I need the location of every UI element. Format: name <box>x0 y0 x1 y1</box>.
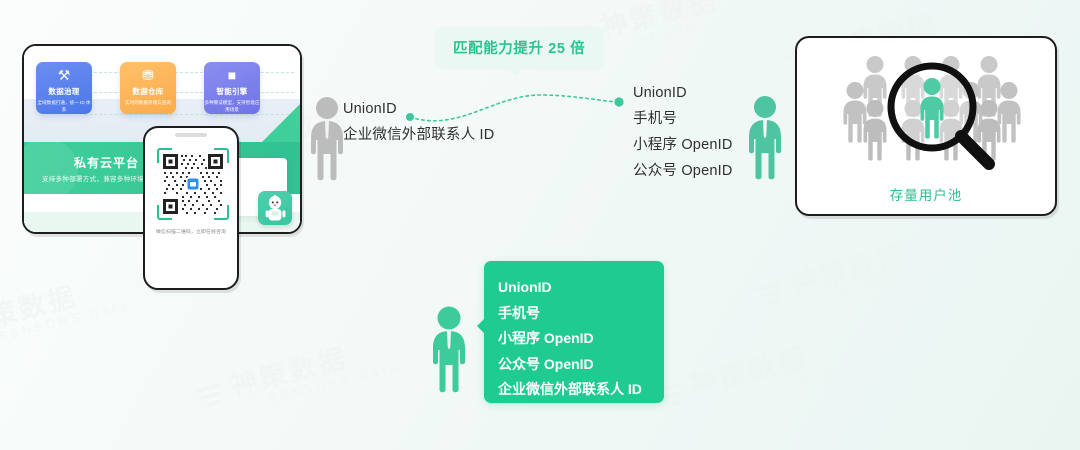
banner-title: 私有云平台 <box>74 154 139 171</box>
infographic-canvas: 神策数据 SENSORS Data 神策数据 SENSORS Data 神策数据… <box>0 0 1080 450</box>
qr-code[interactable] <box>161 152 225 216</box>
identity-item: 手机号 <box>498 301 664 327</box>
identity-item: 小程序 OpenID <box>633 132 733 158</box>
watermark-cn: 神策数据 <box>0 270 129 338</box>
banner-subtitle: 支持多种部署方式，兼容多种环境 <box>42 173 144 183</box>
feature-card-data-warehouse[interactable]: ⛃ 数据仓库 实时的数据存储与查询 <box>120 62 176 114</box>
identity-item: UnionID <box>498 275 664 301</box>
mascot-icon[interactable] <box>258 191 292 225</box>
identity-item: 小程序 OpenID <box>498 326 664 352</box>
watermark-cn: 神策数据 <box>687 332 858 400</box>
person-green-icon <box>428 306 470 394</box>
box-pointer <box>477 319 484 333</box>
green-arrow-decoration <box>248 46 300 142</box>
feature-card-data-governance[interactable]: ⚒ 数据治理 全域数据打通，统一 ID 体系 <box>36 62 92 114</box>
matched-identity-list: UnionID 手机号 小程序 OpenID 公众号 OpenID <box>633 80 733 184</box>
crowd-illustration <box>825 50 1030 170</box>
watermark-en: SENSORS Data <box>234 360 402 415</box>
callout-tail <box>507 67 523 75</box>
user-pool-label: 存量用户池 <box>797 184 1055 204</box>
qr-bracket-icon <box>157 148 172 163</box>
tools-icon: ⚒ <box>36 68 92 83</box>
sensors-logo-icon <box>754 280 788 309</box>
watermark-en: SENSORS Data <box>694 360 862 415</box>
feature-card-title: 数据治理 <box>36 86 92 97</box>
person-green-icon <box>744 95 786 181</box>
identity-item: UnionID <box>633 80 733 106</box>
watermark: 神策数据 SENSORS Data <box>597 0 772 56</box>
qr-bracket-icon <box>214 205 229 220</box>
qr-bracket-icon <box>157 205 172 220</box>
watermark: 神策数据 SENSORS Data <box>0 270 132 352</box>
watermark: 神策数据 SENSORS Data <box>787 230 962 312</box>
watermark-cn: 神策数据 <box>227 332 398 400</box>
watermark-en: SENSORS Data <box>794 258 962 313</box>
identity-item: 企业微信外部联系人 ID <box>343 122 494 148</box>
identity-item: 公众号 OpenID <box>498 352 664 378</box>
user-pool-card: 存量用户池 <box>795 36 1057 216</box>
watermark: 神策数据 SENSORS Data <box>227 332 402 414</box>
watermark-en: SENSORS Data <box>604 2 772 57</box>
identity-item: 公众号 OpenID <box>633 158 733 184</box>
qr-caption: 微信扫描二维码，立即在线咨询 <box>145 228 237 235</box>
feature-card-subtitle: 全域数据打通，统一 ID 体系 <box>36 100 92 114</box>
watermark-cn: 神策数据 <box>597 0 768 43</box>
feature-card-subtitle: 实时的数据存储与查询 <box>120 100 176 107</box>
callout-text: 匹配能力提升 25 倍 <box>453 41 585 57</box>
identity-item: UnionID <box>343 96 494 122</box>
phone-notch <box>175 133 207 137</box>
sensors-logo-icon <box>194 382 228 411</box>
watermark: 神策数据 SENSORS Data <box>687 332 862 414</box>
database-icon: ⛃ <box>120 68 176 83</box>
source-identity-list: UnionID 企业微信外部联系人 ID <box>343 96 494 148</box>
identity-item: 手机号 <box>633 106 733 132</box>
watermark-en: SENSORS Data <box>0 298 132 353</box>
merged-identity-box: UnionID 手机号 小程序 OpenID 公众号 OpenID 企业微信外部… <box>484 261 664 403</box>
identity-item: 企业微信外部联系人 ID <box>498 377 664 403</box>
match-improvement-callout: 匹配能力提升 25 倍 <box>435 27 603 68</box>
person-gray-icon <box>306 96 348 182</box>
qr-bracket-icon <box>214 148 229 163</box>
feature-card-title: 数据仓库 <box>120 86 176 97</box>
watermark-cn: 神策数据 <box>787 230 958 298</box>
phone-device: 微信扫描二维码，立即在线咨询 <box>143 126 239 290</box>
curve-end-dot <box>614 97 623 106</box>
